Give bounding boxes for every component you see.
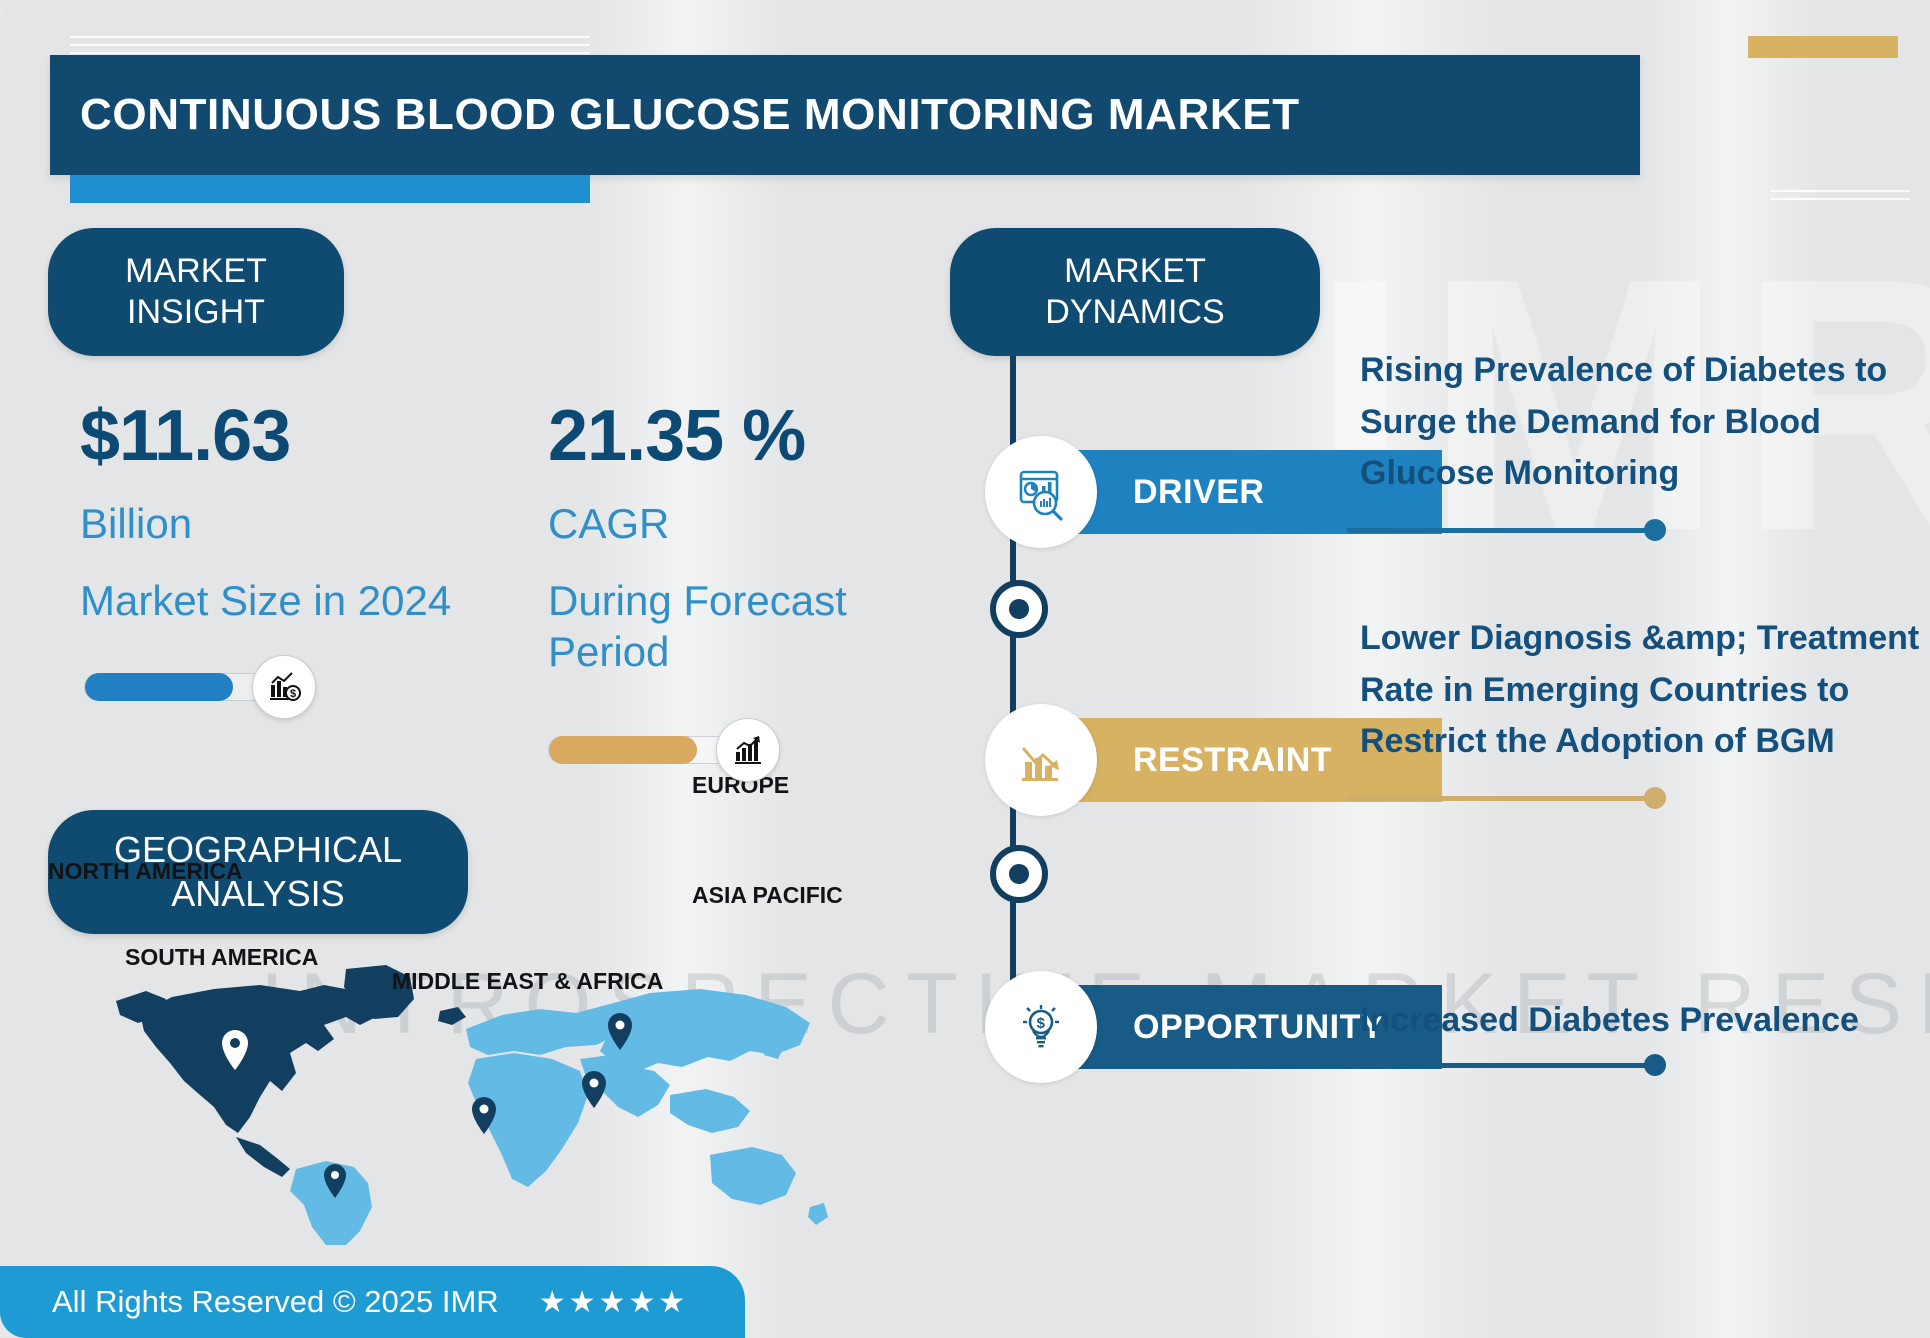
footer-copyright: All Rights Reserved © 2025 IMR [52,1284,499,1320]
footer-rating-stars: ★★★★★ [539,1285,688,1320]
metric-cagr: 21.35 % CAGR During Forecast Period [548,400,847,678]
map-region-australia [710,1147,796,1205]
map-region-iceland [438,1007,466,1025]
declining-bar-chart-icon [985,704,1097,816]
dynamics-opportunity-leader-line [1347,1063,1647,1068]
dynamics-restraint-text: Lower Diagnosis &amp; Treatment Rate in … [1360,613,1930,768]
lightbulb-dollar-icon: $ [985,971,1097,1083]
dynamics-driver-leader [1347,519,1666,541]
market-dynamics-pill: MARKET DYNAMICS [950,228,1320,356]
page-title: CONTINUOUS BLOOD GLUCOSE MONITORING MARK… [80,90,1300,140]
growth-arrow-chart-icon [716,718,780,782]
market-insight-pill-line1: MARKET [125,251,267,292]
market-dynamics-pill-line2: DYNAMICS [1045,292,1224,333]
decor-hairline-top-3 [70,52,590,54]
dynamics-restraint-leader-line [1347,796,1647,801]
svg-text:$: $ [1037,1015,1046,1032]
dynamics-driver-text-line2: Surge the Demand for Blood [1360,397,1930,449]
dynamics-opportunity-text-line1: Increased Diabetes Prevalence [1360,995,1930,1047]
metric-cagr-caption-line2: Period [548,626,847,677]
market-dynamics-pill-line1: MARKET [1045,251,1224,292]
decor-gold-chip [1748,36,1898,58]
map-region-southeast-asia [670,1089,750,1133]
decor-hairline-right-2 [1770,198,1910,200]
dynamics-driver-text-line1: Rising Prevalence of Diabetes to [1360,345,1930,397]
dynamics-opportunity-leader [1347,1054,1666,1076]
decor-title-underbar [70,175,590,203]
map-region-north-america [140,983,392,1133]
dynamics-driver-leader-line [1347,528,1647,533]
infographic-canvas: IMR INTROSPECTIVE MARKET RESEARCH CONTIN… [0,0,1930,1338]
map-label-asia-pacific: ASIA PACIFIC [692,882,843,909]
dynamics-driver-text: Rising Prevalence of Diabetes to Surge t… [1360,345,1930,500]
dynamics-restraint-text-line3: Restrict the Adoption of BGM [1360,716,1930,768]
bar-chart-dollar-icon: $ [252,655,316,719]
footer-bar: All Rights Reserved © 2025 IMR ★★★★★ [0,1266,745,1338]
metric-cagr-caption-line1: During Forecast [548,575,847,626]
metric-cagr-progress-fill [549,736,697,764]
metric-market-size-progress-fill [85,673,233,701]
dynamics-opportunity-label: OPPORTUNITY [1133,1008,1384,1047]
metric-cagr-value: 21.35 % [548,400,847,472]
dynamics-driver-label: DRIVER [1133,473,1264,512]
decor-hairline-right-1 [1770,190,1910,192]
dynamics-restraint-leader [1347,787,1666,809]
map-region-asia [600,989,810,1073]
svg-text:$: $ [290,688,296,700]
dynamics-driver-text-line3: Glucose Monitoring [1360,448,1930,500]
dynamics-restraint-text-line1: Lower Diagnosis &amp; Treatment [1360,613,1930,665]
metric-market-size: $11.63 Billion Market Size in 2024 [80,400,451,626]
dynamics-opportunity-text: Increased Diabetes Prevalence [1360,995,1930,1047]
dynamics-opportunity-leader-dot [1644,1054,1666,1076]
map-label-south-america: SOUTH AMERICA [125,944,318,971]
market-insight-pill-line2: INSIGHT [125,292,267,333]
map-label-north-america: NORTH AMERICA [48,858,243,885]
decor-hairline-top-2 [70,44,590,46]
metric-market-size-value: $11.63 [80,400,451,472]
dashboard-magnifier-icon [985,436,1097,548]
metric-market-size-unit: Billion [80,498,451,549]
dynamics-driver-leader-dot [1644,519,1666,541]
page-title-bar: CONTINUOUS BLOOD GLUCOSE MONITORING MARK… [50,55,1640,175]
metric-market-size-caption: Market Size in 2024 [80,575,451,626]
map-label-middle-east-africa: MIDDLE EAST & AFRICA [392,968,663,995]
map-region-new-zealand [808,1203,828,1225]
world-map [110,955,850,1245]
metric-market-size-progress-track [84,673,266,701]
dynamics-restraint-label: RESTRAINT [1133,741,1332,780]
market-insight-pill: MARKET INSIGHT [48,228,344,356]
metric-market-size-progress: $ [84,655,316,719]
dynamics-restraint-leader-dot [1644,787,1666,809]
timeline-node-2 [990,845,1048,903]
metric-cagr-progress [548,718,780,782]
metric-cagr-unit: CAGR [548,498,847,549]
metric-cagr-progress-track [548,736,730,764]
map-pin-asia-pacific [582,1071,606,1108]
dynamics-restraint-text-line2: Rate in Emerging Countries to [1360,665,1930,717]
map-region-central-america [236,1137,290,1177]
timeline-node-1 [990,580,1048,638]
decor-hairline-top-1 [70,36,590,38]
